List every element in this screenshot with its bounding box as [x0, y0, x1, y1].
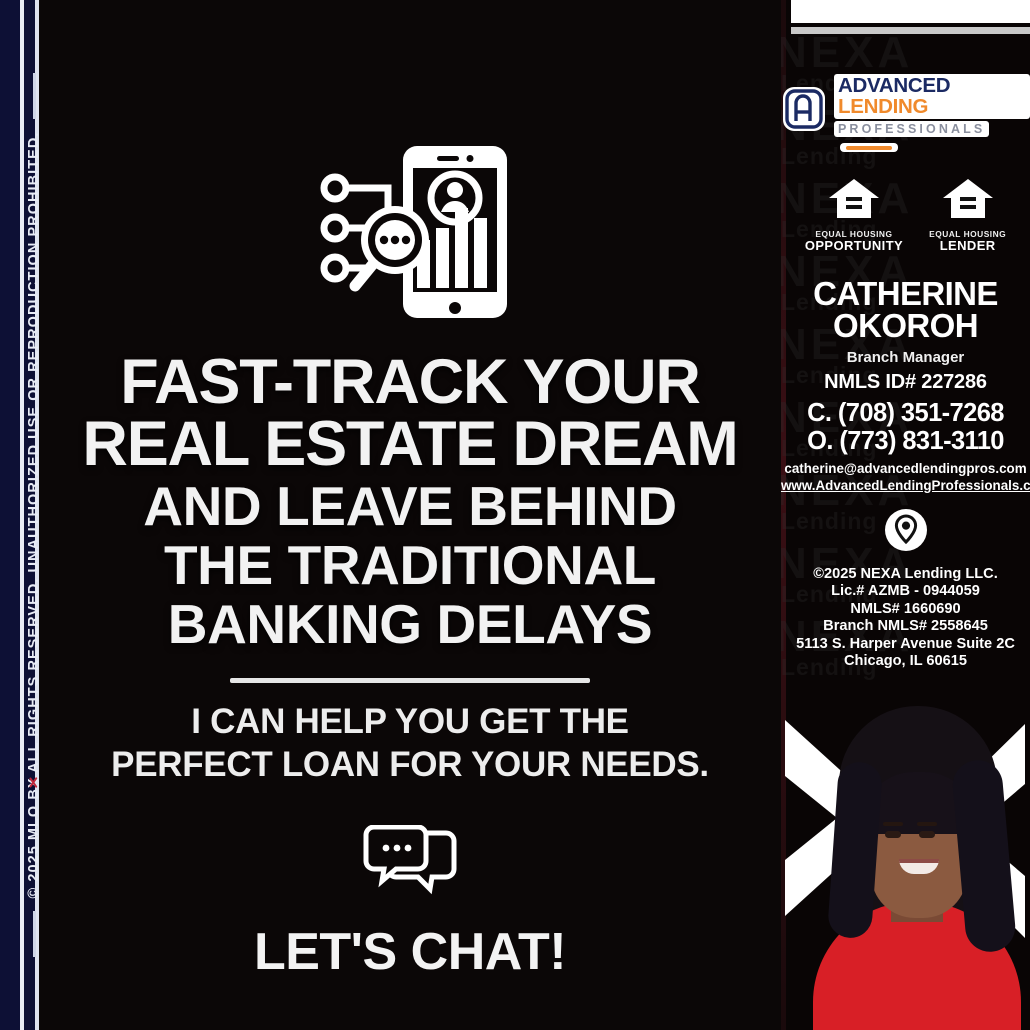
logo-word-lending: LENDING [838, 95, 928, 118]
logo-accent-bar [840, 143, 898, 152]
agent-first-name: CATHERINE [781, 278, 1030, 310]
headline-line-3: AND LEAVE BEHIND [82, 480, 737, 534]
agent-portrait [803, 700, 1030, 1030]
compliance-badges: EQUAL HOUSING OPPORTUNITY EQUAL HOUSING … [781, 176, 1030, 252]
headline-line-2: REAL ESTATE DREAM [82, 414, 737, 476]
license-line-2: Lic.# AZMB - 0944059 [781, 583, 1030, 601]
agent-office-phone[interactable]: O. (773) 831-3110 [781, 427, 1030, 456]
frame-stripe-navy-inner [24, 0, 35, 1030]
frame-stripe-navy-outer [0, 0, 20, 1030]
agent-photo-block [781, 685, 1030, 1030]
equal-housing-icon [826, 176, 882, 222]
badge-caption-line-2: LENDER [929, 239, 1006, 252]
agent-name: CATHERINE OKOROH [781, 278, 1030, 341]
license-line-6: Chicago, IL 60615 [781, 653, 1030, 671]
chat-bubbles-icon [362, 825, 458, 904]
flyer-canvas: FAST-TRACK YOUR REAL ESTATE DREAM AND LE… [0, 0, 1030, 1030]
headline: FAST-TRACK YOUR REAL ESTATE DREAM AND LE… [82, 352, 737, 652]
license-line-5: 5113 S. Harper Avenue Suite 2C [781, 636, 1030, 654]
badge-caption-line-2: OPPORTUNITY [805, 239, 903, 252]
license-line-3: NMLS# 1660690 [781, 601, 1030, 619]
sidebar-content: ADVANCED LENDING PROFESSIONALS EQUAL HOU… [781, 0, 1030, 671]
equal-housing-icon [940, 176, 996, 222]
headline-line-5: BANKING DELAYS [82, 598, 737, 652]
headline-line-4: THE TRADITIONAL [82, 539, 737, 593]
agent-cell-phone[interactable]: C. (708) 351-7268 [781, 399, 1030, 428]
equal-housing-opportunity-badge: EQUAL HOUSING OPPORTUNITY [805, 176, 903, 252]
subheadline-line-1: I CAN HELP YOU GET THE [111, 701, 709, 744]
advanced-lending-logo: ADVANCED LENDING PROFESSIONALS [781, 74, 1030, 152]
contact-sidebar: NEXA Lending NEXA Lending NEXA Lending N… [781, 0, 1030, 1030]
mobile-analytics-search-icon [305, 140, 515, 330]
subheadline-line-2: PERFECT LOAN FOR YOUR NEEDS. [111, 744, 709, 787]
frame-stripe-white-inner [35, 0, 39, 1030]
logo-tagline: PROFESSIONALS [834, 121, 989, 137]
agent-website[interactable]: www.AdvancedLendingProfessionals.com [781, 478, 1030, 493]
agent-title: Branch Manager [781, 349, 1030, 366]
main-content-panel: FAST-TRACK YOUR REAL ESTATE DREAM AND LE… [39, 0, 781, 1030]
portrait-brow-left [883, 822, 903, 826]
logo-wordmark: ADVANCED LENDING PROFESSIONALS [834, 74, 1030, 152]
portrait-brow-right [917, 822, 937, 826]
cta-label[interactable]: LET'S CHAT! [254, 922, 566, 982]
subheadline: I CAN HELP YOU GET THE PERFECT LOAN FOR … [111, 701, 709, 786]
equal-housing-lender-badge: EQUAL HOUSING LENDER [929, 176, 1006, 252]
alp-monogram-icon [781, 85, 827, 142]
license-disclosure: ©2025 NEXA Lending LLC. Lic.# AZMB - 094… [781, 566, 1030, 671]
headline-line-1: FAST-TRACK YOUR [82, 352, 737, 414]
agent-nmls-id: NMLS ID# 227286 [781, 371, 1030, 394]
cta-block[interactable]: LET'S CHAT! [39, 825, 781, 982]
license-line-4: Branch NMLS# 2558645 [781, 618, 1030, 636]
agent-email[interactable]: catherine@advancedlendingpros.com [781, 461, 1030, 476]
portrait-eye-left [885, 831, 901, 838]
portrait-eye-right [919, 831, 935, 838]
location-pin-icon [781, 507, 1030, 558]
divider-rule [230, 678, 590, 683]
logo-primary-line: ADVANCED LENDING [834, 74, 1030, 119]
license-line-1: ©2025 NEXA Lending LLC. [781, 566, 1030, 584]
agent-last-name: OKOROH [781, 310, 1030, 342]
